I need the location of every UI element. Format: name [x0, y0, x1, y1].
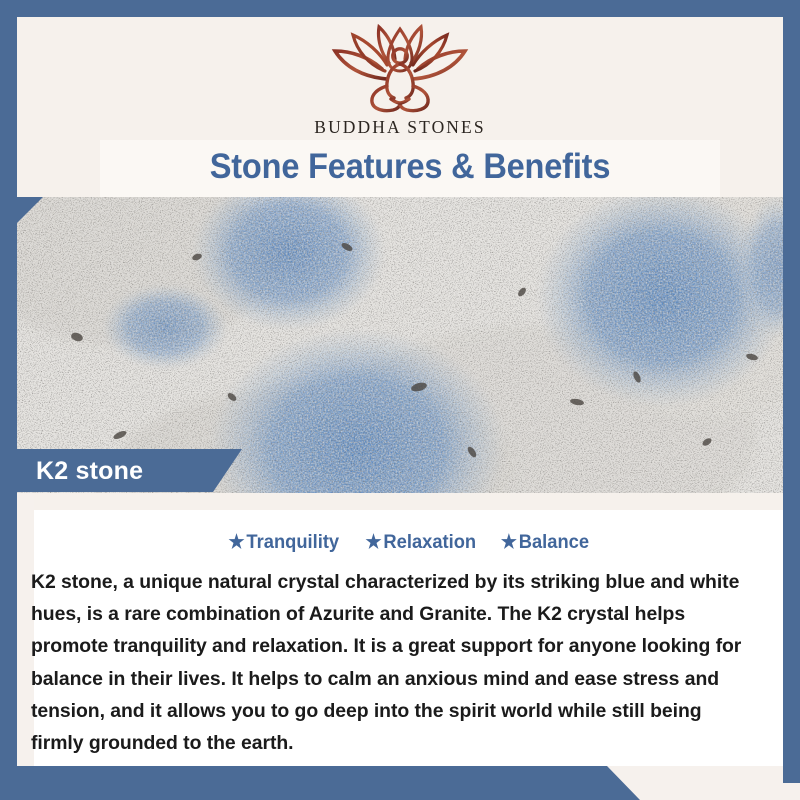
benefit-item-balance: ★Balance — [501, 531, 589, 554]
frame-top — [0, 0, 800, 17]
star-icon: ★ — [229, 532, 245, 553]
benefit-label: Balance — [518, 531, 588, 553]
frame-right — [783, 17, 800, 783]
frame-bottom-bar — [0, 766, 640, 800]
frame-left — [0, 17, 17, 783]
stone-photo — [17, 197, 783, 493]
benefit-item-tranquility: ★Tranquility — [229, 531, 340, 554]
description-text: K2 stone, a unique natural crystal chara… — [31, 566, 755, 759]
page-title: Stone Features & Benefits — [122, 141, 699, 193]
benefits-list: ★Tranquility ★Relaxation ★Balance — [34, 531, 783, 554]
brand-logo: BUDDHA STONES — [17, 23, 783, 138]
star-icon: ★ — [365, 532, 381, 553]
benefit-label: Relaxation — [383, 531, 476, 553]
stone-caption-label: K2 stone — [36, 455, 143, 487]
benefit-item-relaxation: ★Relaxation — [365, 531, 476, 554]
lotus-meditation-icon — [325, 23, 475, 115]
benefit-label: Tranquility — [247, 531, 340, 553]
star-icon: ★ — [501, 532, 517, 553]
infographic-card: BUDDHA STONES Stone Features & Benefits … — [0, 0, 800, 800]
brand-name: BUDDHA STONES — [17, 117, 783, 138]
